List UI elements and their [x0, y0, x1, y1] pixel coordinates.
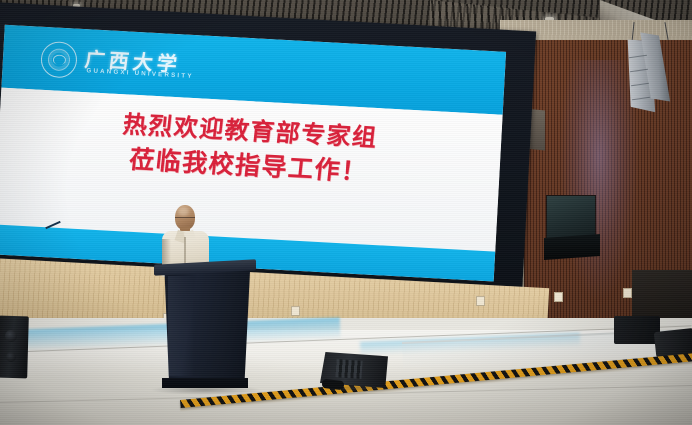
- speaker-grill: [335, 359, 362, 379]
- presenter-head-highlight: [178, 207, 189, 216]
- lecture-hall-photo: 广西大学 GUANGXI UNIVERSITY 热烈欢迎教育部专家组 莅临我校指…: [0, 0, 692, 425]
- left-floor-speaker: [0, 316, 29, 379]
- wall-outlet: [554, 292, 563, 302]
- wall-outlet: [476, 296, 485, 306]
- wall-outlet: [623, 288, 632, 298]
- right-floor-speaker: [614, 316, 660, 344]
- wall-outlet: [291, 306, 300, 316]
- screen-slide: 广西大学 GUANGXI UNIVERSITY 热烈欢迎教育部专家组 莅临我校指…: [0, 25, 506, 282]
- line-array-speaker: [622, 22, 690, 120]
- speaker-driver-icon: [6, 352, 16, 362]
- speaker-driver-icon: [5, 330, 17, 342]
- suspension-cable: [664, 22, 668, 40]
- control-room-window-lower: [544, 234, 600, 260]
- podium: [154, 262, 256, 390]
- glasses-icon: [175, 217, 195, 222]
- podium-highlight: [168, 276, 194, 376]
- right-side-furniture: [632, 270, 692, 318]
- podium-base: [162, 378, 248, 388]
